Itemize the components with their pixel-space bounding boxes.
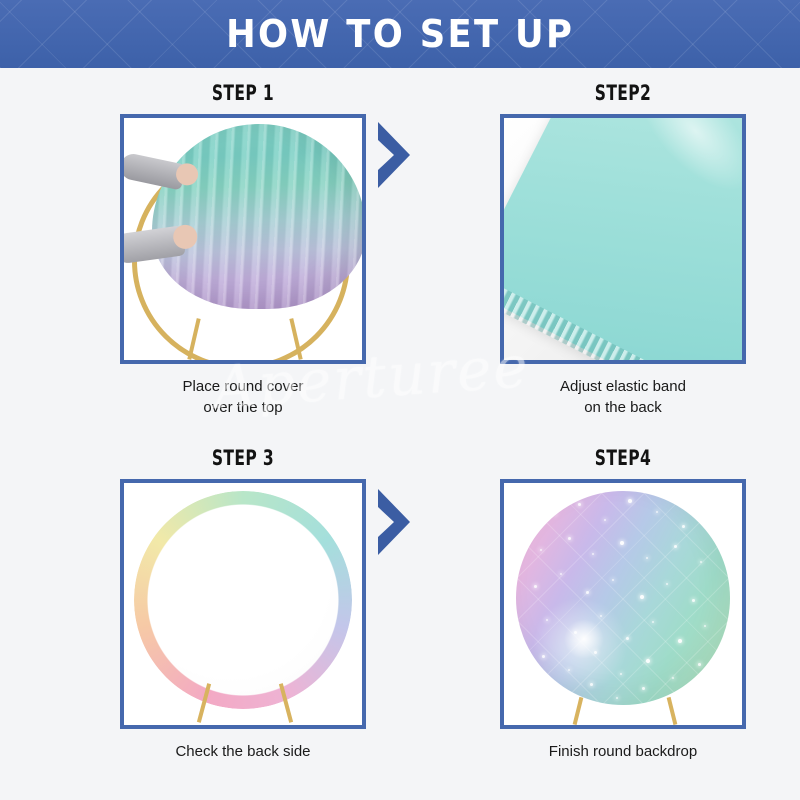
page-header-banner: HOW TO SET UP [0,0,800,68]
step-caption-1: Place round cover over the top [78,376,408,418]
step-photo-frame-4 [500,479,746,729]
step-photo-frame-1 [120,114,366,364]
step-caption-1-line2: over the top [78,397,408,418]
step-caption-4: Finish round backdrop [458,741,788,762]
elastic-band-closeup-image [504,118,742,360]
step-label-2: STEP2 [501,80,745,106]
page-title: HOW TO SET UP [226,12,574,56]
step-card-4: STEP4 Finish round backdrop [458,445,788,762]
fabric-highlight [619,118,742,210]
pastel-rainbow-rim-shape [134,491,352,709]
gradient-cover-fabric-shape [152,124,362,309]
step-caption-2-line1: Adjust elastic band [458,376,788,397]
step-card-1: STEP 1 Place round cover over the top [78,80,408,418]
step-label-4: STEP4 [501,445,745,471]
step-label-3: STEP 3 [121,445,365,471]
step-photo-frame-2 [500,114,746,364]
step-label-1: STEP 1 [121,80,365,106]
step-caption-4-line1: Finish round backdrop [458,741,788,762]
step-caption-2-line2: on the back [458,397,788,418]
hands-placing-cover-on-round-frame-image [124,118,362,360]
step-caption-2: Adjust elastic band on the back [458,376,788,418]
chevron-right-icon-1 [372,118,418,192]
step-card-2: STEP2 Adjust elastic band on the back [458,80,788,418]
backdrop-back-side-image [124,483,362,725]
finished-round-backdrop-image [504,483,742,725]
step-card-3: STEP 3 Check the back side [78,445,408,762]
step-photo-frame-3 [120,479,366,729]
step-caption-3: Check the back side [78,741,408,762]
step-caption-1-line1: Place round cover [78,376,408,397]
step-caption-3-line1: Check the back side [78,741,408,762]
fabric-folds-texture [152,124,362,309]
star-sparkles [516,491,730,705]
light-glow-spot [564,619,604,659]
chevron-right-icon-2 [372,485,418,559]
gradient-backdrop-disc-shape [516,491,730,705]
